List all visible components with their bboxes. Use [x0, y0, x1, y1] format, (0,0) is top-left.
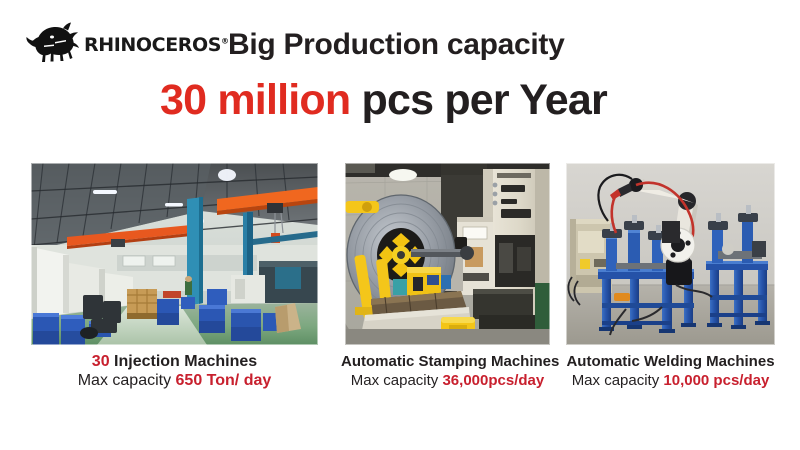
- caption-3-capacity-value: 10,000 pcs/day: [663, 372, 769, 389]
- caption-1-line-2: Max capacity 650 Ton/ day: [31, 371, 318, 390]
- header-banner: RHINOCEROS® Big Production capacity 30 m…: [0, 0, 800, 150]
- caption-3-line-2: Max capacity 10,000 pcs/day: [564, 371, 777, 390]
- caption-1-capacity-value: 650 Ton/ day: [176, 372, 272, 389]
- caption-1-title: Injection Machines: [110, 353, 258, 370]
- brand-wordmark-text: RHINOCEROS: [84, 34, 221, 56]
- caption-3-line-1: Automatic Welding Machines: [564, 352, 777, 371]
- headline-primary: Big Production capacity: [228, 28, 565, 63]
- caption-welding-machines: Automatic Welding Machines Max capacity …: [564, 352, 777, 390]
- caption-2-capacity-value: 36,000pcs/day: [442, 372, 544, 389]
- caption-1-line-1: 30 Injection Machines: [31, 352, 318, 371]
- brand-logo: RHINOCEROS®: [26, 20, 206, 66]
- automatic-welding-machine-photo: [566, 163, 775, 345]
- caption-injection-machines: 30 Injection Machines Max capacity 650 T…: [31, 352, 318, 390]
- photo-gallery: [0, 163, 800, 345]
- brand-wordmark: RHINOCEROS®: [84, 36, 229, 55]
- injection-molding-factory-photo: [31, 163, 318, 345]
- rhinoceros-logo-icon: [26, 22, 82, 64]
- caption-1-capacity-label: Max capacity: [78, 372, 176, 389]
- caption-1-count: 30: [92, 353, 110, 370]
- caption-2-line-1: Automatic Stamping Machines: [341, 352, 554, 371]
- automatic-stamping-machine-photo: [345, 163, 550, 345]
- caption-3-title: Automatic Welding Machines: [566, 353, 774, 370]
- headline-highlight-value: 30 million: [160, 76, 350, 124]
- caption-row: 30 Injection Machines Max capacity 650 T…: [0, 352, 800, 398]
- caption-stamping-machines: Automatic Stamping Machines Max capacity…: [341, 352, 554, 390]
- headline-secondary-rest: pcs per Year: [350, 76, 607, 124]
- headline-secondary: 30 million pcs per Year: [160, 76, 607, 125]
- caption-2-line-2: Max capacity 36,000pcs/day: [341, 371, 554, 390]
- caption-2-capacity-label: Max capacity: [351, 372, 443, 389]
- caption-2-title: Automatic Stamping Machines: [341, 353, 559, 370]
- caption-3-capacity-label: Max capacity: [572, 372, 664, 389]
